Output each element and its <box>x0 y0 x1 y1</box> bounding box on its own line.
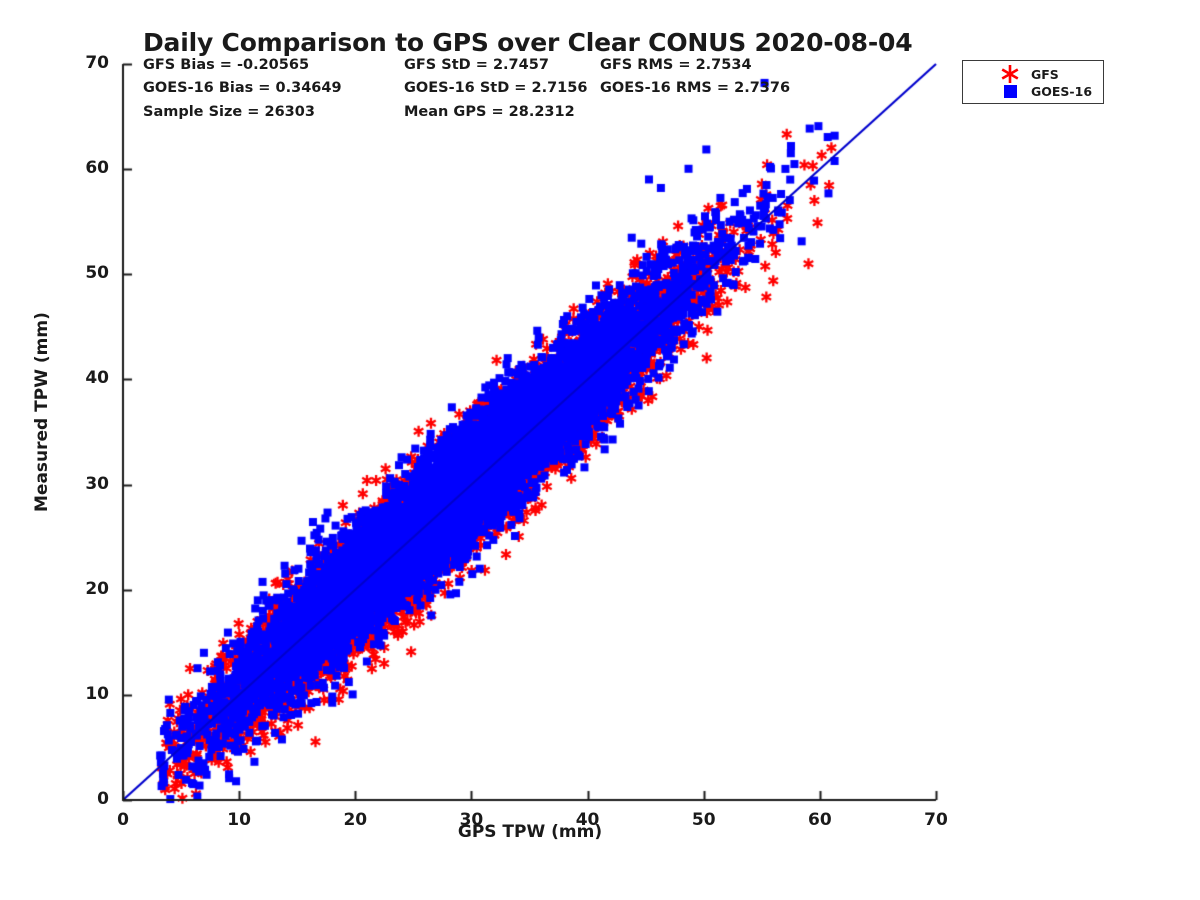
x-tick-label-70: 70 <box>906 810 966 830</box>
y-tick-label-70: 70 <box>49 53 109 73</box>
chart-legend: GFS GOES-16 <box>962 60 1104 104</box>
legend-square-icon <box>1004 85 1017 98</box>
scatter-plot-figure: Daily Comparison to GPS over Clear CONUS… <box>0 0 1200 900</box>
x-tick-label-10: 10 <box>209 810 269 830</box>
stat-goes16-std: GOES-16 StD = 2.7156 <box>404 80 587 96</box>
y-tick-label-0: 0 <box>49 789 109 809</box>
legend-asterisk-icon <box>999 63 1021 85</box>
x-tick-label-60: 60 <box>790 810 850 830</box>
y-tick-label-20: 20 <box>49 579 109 599</box>
y-tick-label-30: 30 <box>49 474 109 494</box>
x-tick-label-40: 40 <box>558 810 618 830</box>
y-tick-label-40: 40 <box>49 368 109 388</box>
legend-label-gfs: GFS <box>1031 67 1059 82</box>
stat-mean-gps: Mean GPS = 28.2312 <box>404 104 575 120</box>
y-tick-label-60: 60 <box>49 158 109 178</box>
x-axis-label: GPS TPW (mm) <box>0 822 1060 842</box>
x-tick-label-50: 50 <box>674 810 734 830</box>
x-tick-label-0: 0 <box>93 810 153 830</box>
y-tick-label-10: 10 <box>49 684 109 704</box>
legend-label-goes: GOES-16 <box>1031 84 1092 99</box>
stat-gfs-std: GFS StD = 2.7457 <box>404 57 549 73</box>
stat-goes16-bias: GOES-16 Bias = 0.34649 <box>143 80 342 96</box>
scatter-plot-canvas <box>0 0 1200 900</box>
y-tick-label-50: 50 <box>49 263 109 283</box>
stat-goes16-rms: GOES-16 RMS = 2.7376 <box>600 80 790 96</box>
stat-gfs-bias: GFS Bias = -0.20565 <box>143 57 309 73</box>
x-tick-label-30: 30 <box>441 810 501 830</box>
stat-gfs-rms: GFS RMS = 2.7534 <box>600 57 752 73</box>
stat-sample-size: Sample Size = 26303 <box>143 104 315 120</box>
x-tick-label-20: 20 <box>325 810 385 830</box>
page-title: Daily Comparison to GPS over Clear CONUS… <box>143 28 912 57</box>
